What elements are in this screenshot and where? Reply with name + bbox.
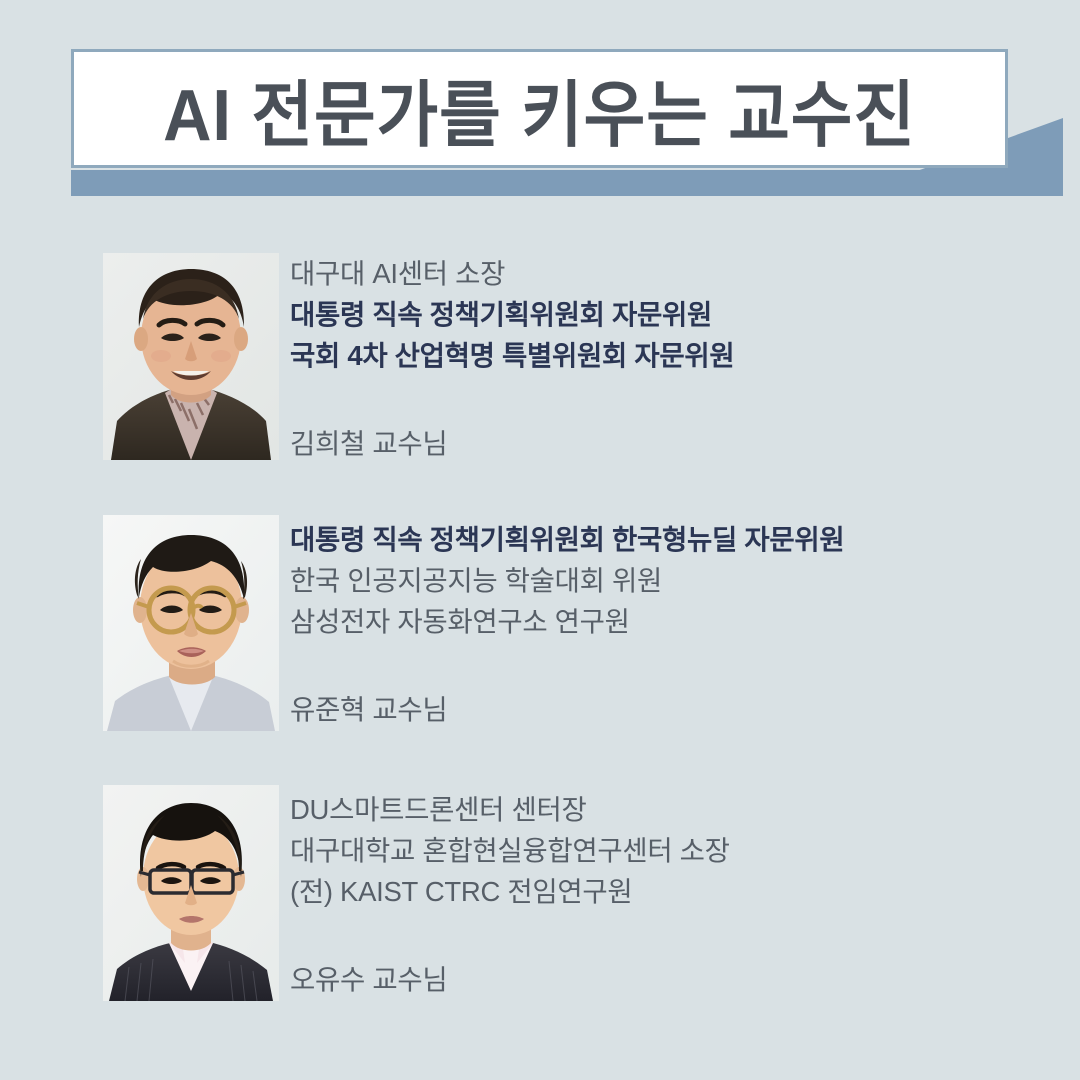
credential-line: 삼성전자 자동화연구소 연구원 [290, 601, 1050, 642]
credential-line: 대구대 AI센터 소장 [290, 253, 1050, 294]
portrait-illustration [103, 253, 279, 460]
professor-name-wrap: 오유수 교수님 [290, 959, 1050, 1000]
credential-line: 대통령 직속 정책기획위원회 자문위원 [290, 294, 1050, 335]
professor-name: 김희철 교수님 [290, 423, 1050, 464]
professor-text-block: 대통령 직속 정책기획위원회 한국형뉴딜 자문위원 한국 인공지공지능 학술대회… [290, 519, 1050, 730]
professor-name: 오유수 교수님 [290, 959, 1050, 1000]
portrait-illustration [103, 785, 279, 1001]
professor-photo-yoo [103, 515, 279, 731]
credential-line: 국회 4차 산업혁명 특별위원회 자문위원 [290, 335, 1050, 376]
credential-line: (전) KAIST CTRC 전임연구원 [290, 871, 1050, 912]
professor-photo-oh [103, 785, 279, 1001]
credential-line: 대구대학교 혼합현실융합연구센터 소장 [290, 830, 1050, 871]
professor-text-block: DU스마트드론센터 센터장 대구대학교 혼합현실융합연구센터 소장 (전) KA… [290, 789, 1050, 1000]
credential-line: 한국 인공지공지능 학술대회 위원 [290, 560, 1050, 601]
page-title: AI 전문가를 키우는 교수진 [104, 49, 975, 168]
professor-name-wrap: 김희철 교수님 [290, 423, 1050, 464]
professor-name-wrap: 유준혁 교수님 [290, 689, 1050, 730]
title-banner: AI 전문가를 키우는 교수진 [0, 0, 1080, 215]
professor-row: 대통령 직속 정책기획위원회 한국형뉴딜 자문위원 한국 인공지공지능 학술대회… [0, 515, 1080, 731]
professor-photo-kim [103, 253, 279, 460]
professor-row: DU스마트드론센터 센터장 대구대학교 혼합현실융합연구센터 소장 (전) KA… [0, 785, 1080, 1001]
portrait-illustration [103, 515, 279, 731]
credential-line: 대통령 직속 정책기획위원회 한국형뉴딜 자문위원 [290, 519, 1050, 560]
professor-row: 대구대 AI센터 소장 대통령 직속 정책기획위원회 자문위원 국회 4차 산업… [0, 253, 1080, 463]
credential-line: DU스마트드론센터 센터장 [290, 789, 1050, 830]
professor-name: 유준혁 교수님 [290, 689, 1050, 730]
professor-text-block: 대구대 AI센터 소장 대통령 직속 정책기획위원회 자문위원 국회 4차 산업… [290, 253, 1050, 464]
